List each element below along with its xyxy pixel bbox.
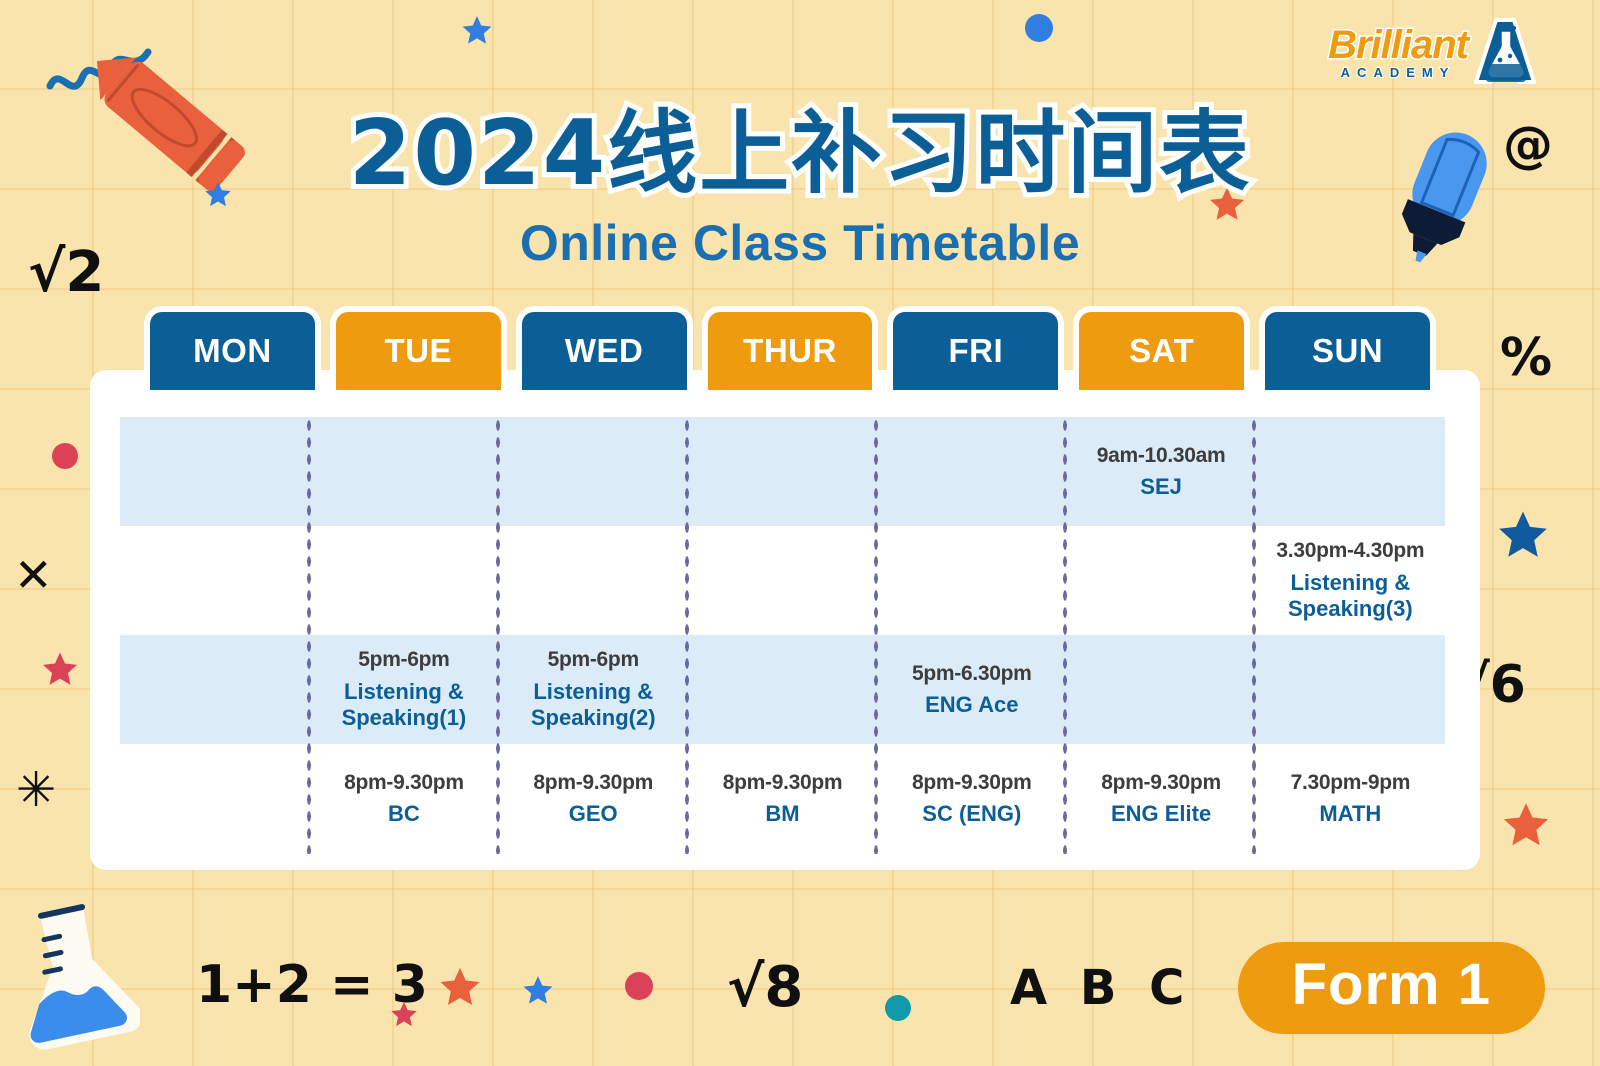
day-label: SAT	[1129, 332, 1194, 370]
cell-thur-r2[interactable]	[688, 526, 877, 635]
cell-time: 8pm-9.30pm	[344, 770, 464, 796]
cell-mon-r3[interactable]	[120, 635, 309, 744]
cell-sun-r3[interactable]	[1256, 635, 1445, 744]
cell-thur-r1[interactable]	[688, 417, 877, 526]
cell-subject: BM	[765, 801, 799, 827]
cell-tue-r1[interactable]	[309, 417, 498, 526]
cell-sun-r2[interactable]: 3.30pm-4.30pmListening & Speaking(3)	[1256, 526, 1445, 635]
cell-tue-r2[interactable]	[309, 526, 498, 635]
logo-wordmark: Brilliant ACADEMY	[1328, 25, 1468, 79]
cell-time: 8pm-9.30pm	[723, 770, 843, 796]
cell-thur-r3[interactable]	[688, 635, 877, 744]
cell-subject: BC	[388, 801, 420, 827]
cell-wed-r2[interactable]	[499, 526, 688, 635]
cell-time: 5pm-6pm	[548, 647, 639, 673]
cell-subject: Listening & Speaking(3)	[1260, 570, 1441, 623]
cell-sat-r3[interactable]	[1066, 635, 1255, 744]
day-label: TUE	[385, 332, 453, 370]
cell-fri-r4[interactable]: 8pm-9.30pmSC (ENG)	[877, 744, 1066, 853]
cell-subject: SEJ	[1140, 474, 1182, 500]
cell-time: 3.30pm-4.30pm	[1276, 538, 1424, 564]
cell-subject: ENG Ace	[925, 692, 1018, 718]
cell-wed-r3[interactable]: 5pm-6pmListening & Speaking(2)	[499, 635, 688, 744]
cell-sat-r2[interactable]	[1066, 526, 1255, 635]
day-header-tue[interactable]: TUE	[336, 312, 501, 390]
logo-a-flask-icon	[1470, 16, 1540, 88]
table-row: 8pm-9.30pmBC 8pm-9.30pmGEO 8pm-9.30pmBM …	[120, 744, 1445, 853]
cell-subject: MATH	[1319, 801, 1381, 827]
page-subtitle-english: Online Class Timetable	[0, 214, 1600, 272]
cell-time: 7.30pm-9pm	[1291, 770, 1411, 796]
cell-time: 9am-10.30am	[1097, 443, 1226, 469]
cell-subject: ENG Elite	[1111, 801, 1211, 827]
cell-sun-r1[interactable]	[1256, 417, 1445, 526]
logo-academy-text: ACADEMY	[1341, 66, 1456, 79]
day-label: WED	[565, 332, 644, 370]
cell-subject: Listening & Speaking(1)	[313, 679, 494, 732]
table-row: 9am-10.30amSEJ	[120, 417, 1445, 526]
cell-time: 8pm-9.30pm	[1101, 770, 1221, 796]
table-row: 5pm-6pmListening & Speaking(1) 5pm-6pmLi…	[120, 635, 1445, 744]
cell-time: 5pm-6.30pm	[912, 661, 1032, 687]
day-header-sun[interactable]: SUN	[1265, 312, 1430, 390]
cell-mon-r1[interactable]	[120, 417, 309, 526]
cell-wed-r1[interactable]	[499, 417, 688, 526]
cell-subject: SC (ENG)	[922, 801, 1021, 827]
cell-subject: GEO	[569, 801, 618, 827]
day-header-mon[interactable]: MON	[150, 312, 315, 390]
cell-mon-r4[interactable]	[120, 744, 309, 853]
cell-sun-r4[interactable]: 7.30pm-9pmMATH	[1256, 744, 1445, 853]
cell-tue-r4[interactable]: 8pm-9.30pmBC	[309, 744, 498, 853]
cell-sat-r4[interactable]: 8pm-9.30pmENG Elite	[1066, 744, 1255, 853]
day-label: FRI	[949, 332, 1004, 370]
day-header-row: MON TUE WED THUR FRI SAT SUN	[150, 312, 1430, 390]
page-title-chinese: 2024线上补习时间表	[0, 80, 1600, 210]
cell-time: 8pm-9.30pm	[533, 770, 653, 796]
cell-time: 8pm-9.30pm	[912, 770, 1032, 796]
cell-mon-r2[interactable]	[120, 526, 309, 635]
day-header-fri[interactable]: FRI	[893, 312, 1058, 390]
timetable-grid: 9am-10.30amSEJ 3.30pm-4.30pmListening & …	[120, 417, 1445, 854]
cell-time: 5pm-6pm	[358, 647, 449, 673]
cell-fri-r3[interactable]: 5pm-6.30pmENG Ace	[877, 635, 1066, 744]
cell-wed-r4[interactable]: 8pm-9.30pmGEO	[499, 744, 688, 853]
cell-thur-r4[interactable]: 8pm-9.30pmBM	[688, 744, 877, 853]
form-level-badge: Form 1	[1238, 942, 1545, 1034]
cell-fri-r2[interactable]	[877, 526, 1066, 635]
day-header-sat[interactable]: SAT	[1079, 312, 1244, 390]
cell-subject: Listening & Speaking(2)	[503, 679, 684, 732]
day-label: MON	[193, 332, 272, 370]
day-header-wed[interactable]: WED	[522, 312, 687, 390]
cell-sat-r1[interactable]: 9am-10.30amSEJ	[1066, 417, 1255, 526]
table-row: 3.30pm-4.30pmListening & Speaking(3)	[120, 526, 1445, 635]
cell-fri-r1[interactable]	[877, 417, 1066, 526]
day-label: SUN	[1312, 332, 1383, 370]
day-header-thur[interactable]: THUR	[708, 312, 873, 390]
day-label: THUR	[743, 332, 837, 370]
brand-logo: Brilliant ACADEMY	[1328, 16, 1540, 88]
cell-tue-r3[interactable]: 5pm-6pmListening & Speaking(1)	[309, 635, 498, 744]
logo-brilliant-text: Brilliant	[1328, 25, 1468, 65]
